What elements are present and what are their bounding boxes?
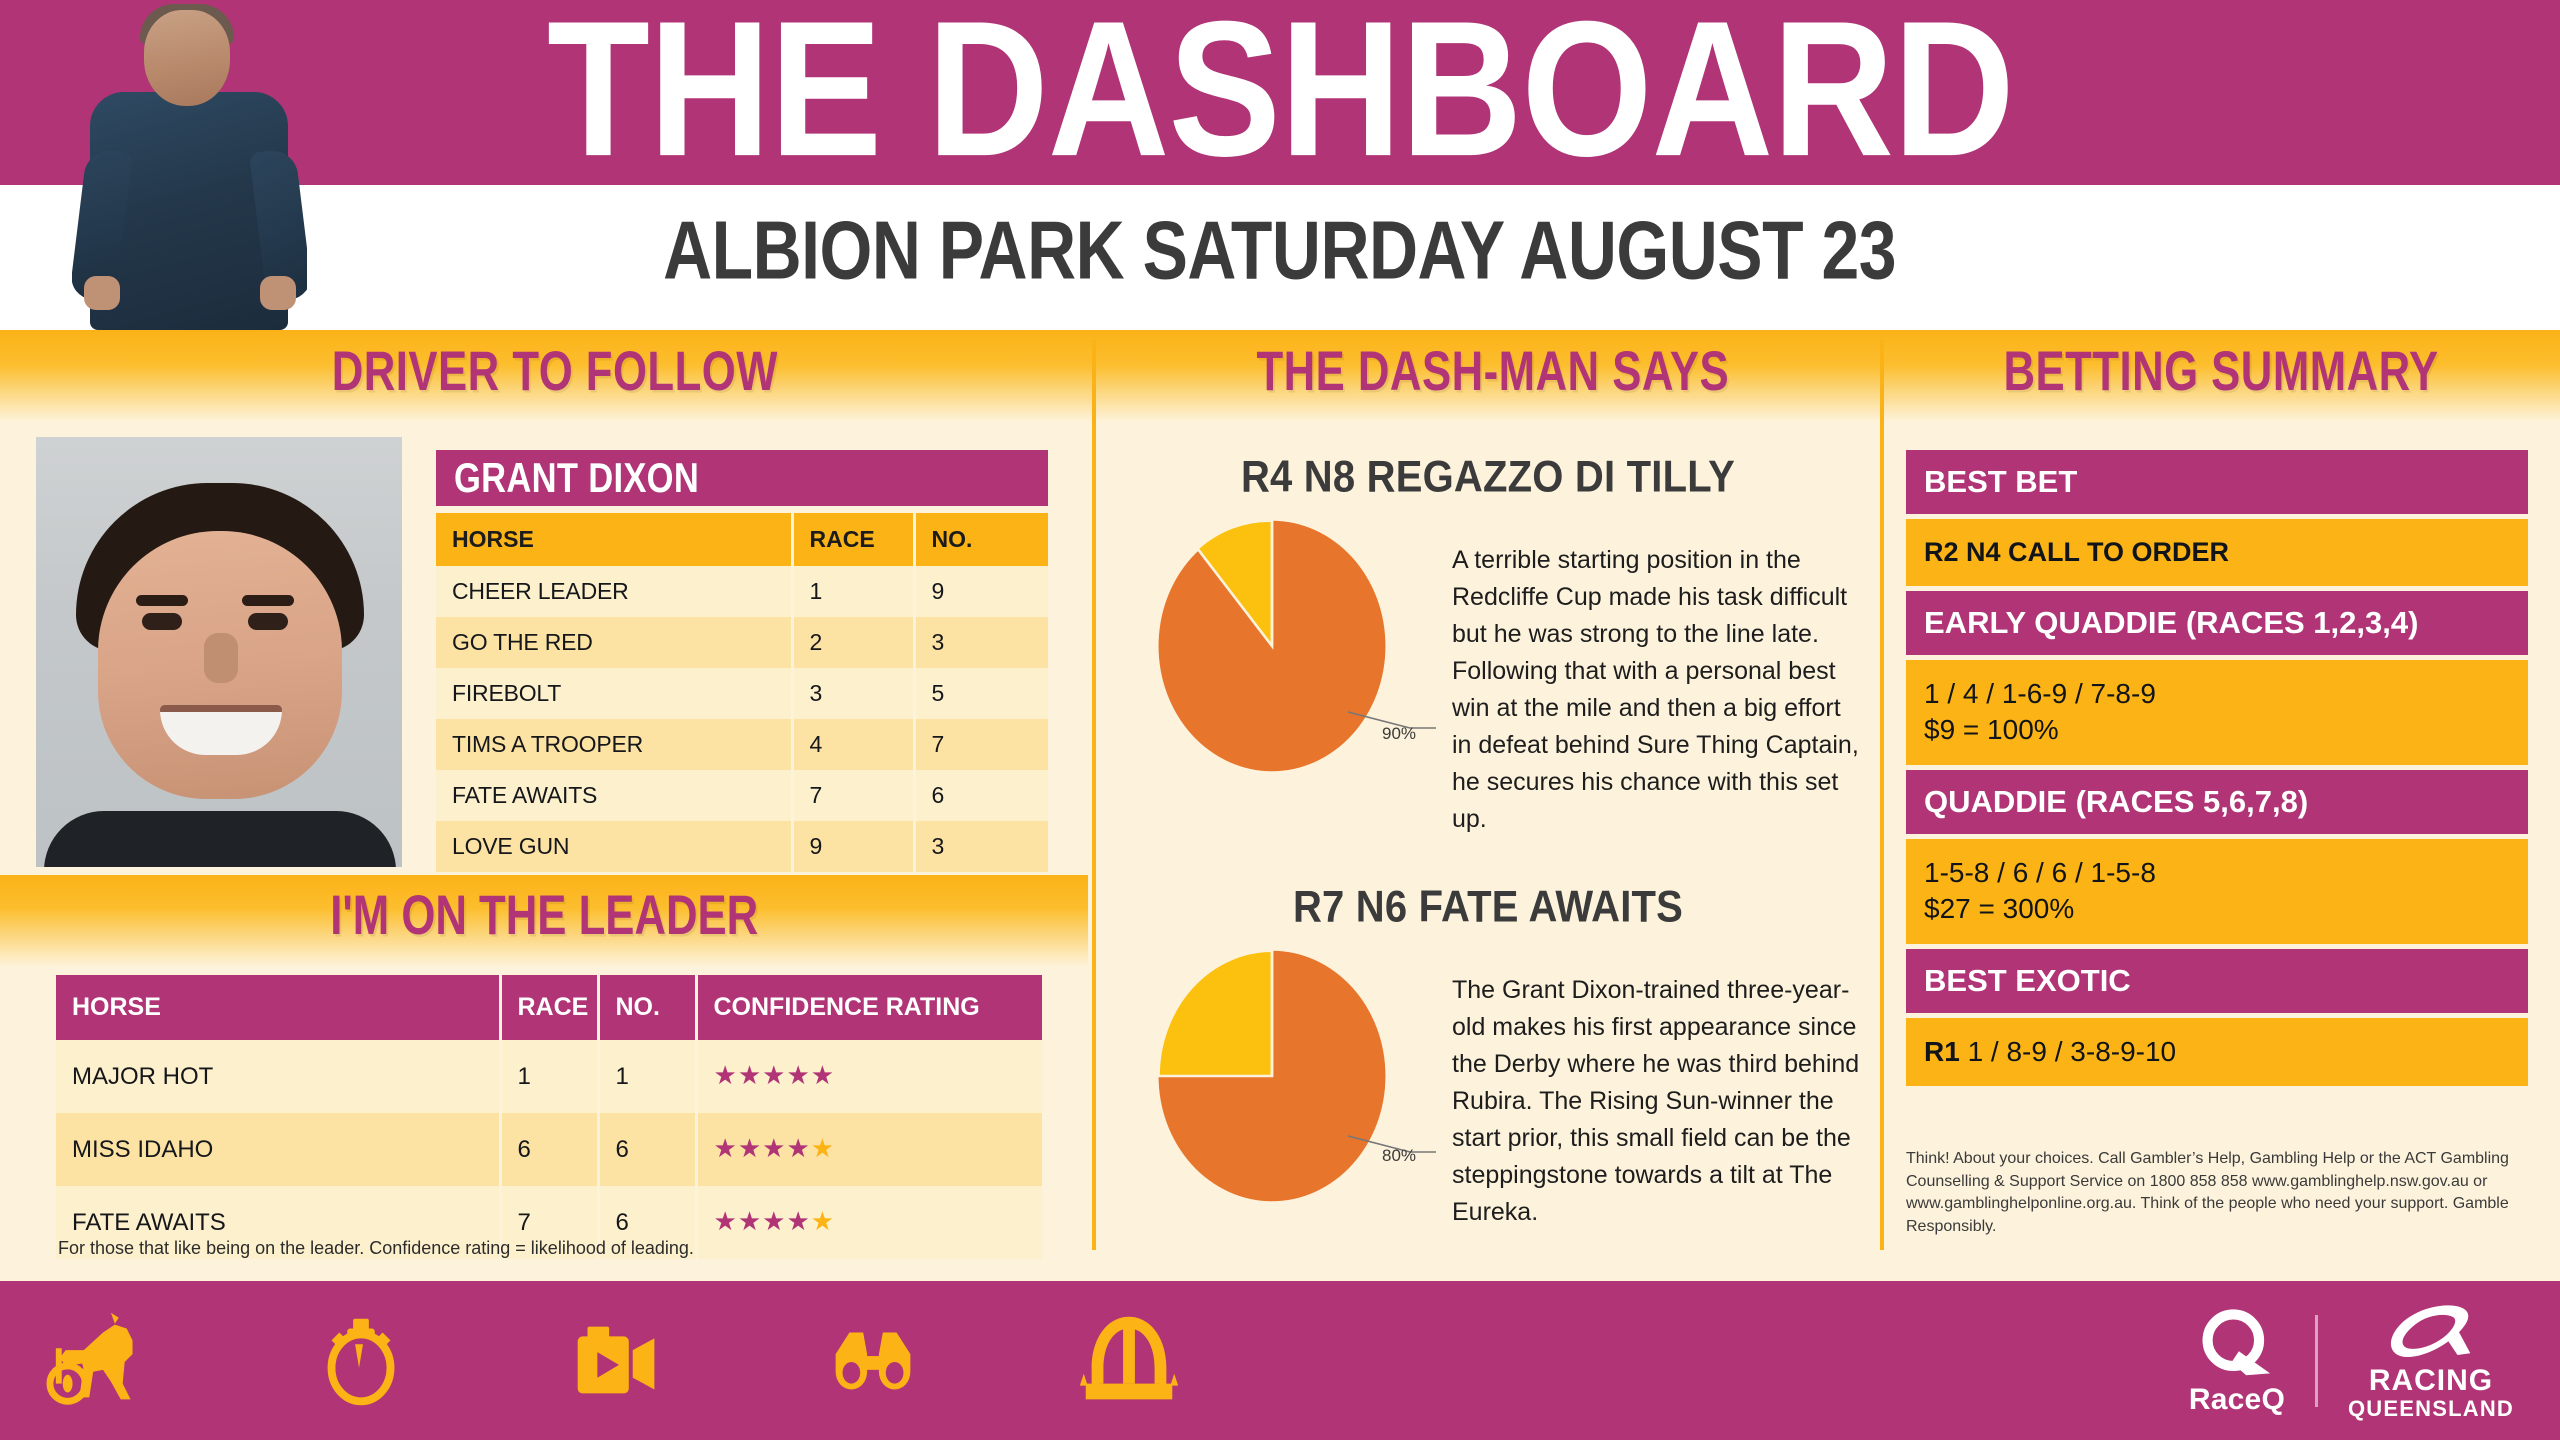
column-divider-left — [1092, 340, 1096, 1250]
table-row: TIMS A TROOPER47 — [436, 719, 1048, 770]
cell-no: 1 — [598, 1040, 696, 1113]
cell-race: 1 — [500, 1040, 598, 1113]
cell-race: 4 — [792, 719, 914, 770]
section-title-im-on-the-leader: I'M ON THE LEADER — [0, 880, 1088, 950]
column-header-race: RACE — [500, 975, 598, 1040]
im-on-the-leader-table: HORSE RACE NO. CONFIDENCE RATING MAJOR H… — [56, 975, 1042, 1259]
driver-nose — [204, 633, 238, 683]
pie-chart-1-label: 90% — [1382, 724, 1416, 744]
pie-chart-2-wrap: 80% — [1110, 946, 1440, 1211]
best-exotic-value: R1 1 / 8-9 / 3-8-9-10 — [1906, 1018, 2528, 1086]
cell-horse: LOVE GUN — [436, 821, 792, 872]
page-subtitle-wrap: ALBION PARK SATURDAY AUGUST 23 — [0, 195, 2560, 305]
cell-no: 6 — [598, 1113, 696, 1186]
cell-horse: CHEER LEADER — [436, 566, 792, 617]
star-icon: ★ — [738, 1206, 762, 1236]
logo-separator — [2315, 1315, 2318, 1407]
star-icon: ★ — [738, 1060, 762, 1090]
column-divider-right — [1880, 340, 1884, 1250]
dash-man-text-1: A terrible starting position in the Redc… — [1440, 516, 1866, 838]
driver-brow-right — [242, 595, 294, 606]
quaddie-line-1: 1-5-8 / 6 / 6 / 1-5-8 — [1924, 855, 2528, 891]
star-icon: ★ — [786, 1060, 810, 1090]
quaddie-line-2: $27 = 300% — [1924, 891, 2528, 927]
cell-no: 5 — [914, 668, 1048, 719]
star-rating: ★★★★★ — [714, 1060, 836, 1090]
column-header-race: RACE — [792, 513, 914, 566]
cell-race: 1 — [792, 566, 914, 617]
cell-horse: FIREBOLT — [436, 668, 792, 719]
racing-queensland-line-2: QUEENSLAND — [2348, 1397, 2514, 1420]
column-header-no: NO. — [598, 975, 696, 1040]
table-row: LOVE GUN93 — [436, 821, 1048, 872]
footer-logo-row: RaceQ RACING QUEENSLAND — [2189, 1308, 2514, 1414]
early-quaddie-header: EARLY QUADDIE (RACES 1,2,3,4) — [1906, 591, 2528, 655]
racing-queensland-line-1: RACING — [2369, 1366, 2493, 1397]
page-title: THE DASHBOARD — [547, 0, 2014, 185]
racing-queensland-mark-icon — [2379, 1302, 2483, 1366]
raceq-wordmark: RaceQ — [2189, 1383, 2285, 1417]
section-title-driver-to-follow: DRIVER TO FOLLOW — [20, 336, 1090, 406]
column-header-confidence: CONFIDENCE RATING — [696, 975, 1042, 1040]
cell-confidence-rating: ★★★★★ — [696, 1040, 1042, 1113]
presenter-hand-left — [84, 276, 120, 310]
best-bet-header: BEST BET — [1906, 450, 2528, 514]
raceq-logo: RaceQ — [2189, 1305, 2285, 1417]
early-quaddie-line-1: 1 / 4 / 1-6-9 / 7-8-9 — [1924, 676, 2528, 712]
cell-horse: FATE AWAITS — [436, 770, 792, 821]
binoculars-icon — [814, 1310, 932, 1410]
best-exotic-combination: 1 / 8-9 / 3-8-9-10 — [1968, 1036, 2177, 1067]
column-header-no: NO. — [914, 513, 1048, 566]
driver-name-banner: GRANT DIXON — [436, 450, 1048, 506]
table-row: FATE AWAITS76 — [436, 770, 1048, 821]
early-quaddie-value: 1 / 4 / 1-6-9 / 7-8-9 $9 = 100% — [1906, 660, 2528, 765]
star-icon: ★ — [714, 1060, 738, 1090]
driver-to-follow-table: HORSE RACE NO. CHEER LEADER19GO THE RED2… — [436, 513, 1048, 872]
table-header-row: HORSE RACE NO. — [436, 513, 1048, 566]
table-row: GO THE RED23 — [436, 617, 1048, 668]
page-title-wrap: THE DASHBOARD — [280, 0, 2280, 184]
pie-chart-2-label: 80% — [1382, 1146, 1416, 1166]
early-quaddie-line-2: $9 = 100% — [1924, 712, 2528, 748]
cell-no: 6 — [914, 770, 1048, 821]
section-title-betting-summary: BETTING SUMMARY — [1896, 336, 2546, 406]
star-icon: ★ — [762, 1060, 786, 1090]
star-icon: ★ — [811, 1206, 835, 1236]
cell-race: 9 — [792, 821, 914, 872]
betting-summary-panel: BEST BET R2 N4 CALL TO ORDER EARLY QUADD… — [1906, 450, 2528, 1091]
star-icon: ★ — [811, 1060, 835, 1090]
quaddie-value: 1-5-8 / 6 / 6 / 1-5-8 $27 = 300% — [1906, 839, 2528, 944]
pie-chart-1-wrap: 90% — [1110, 516, 1440, 781]
cell-no: 3 — [914, 617, 1048, 668]
presenter-head — [144, 10, 230, 106]
quaddie-header: QUADDIE (RACES 5,6,7,8) — [1906, 770, 2528, 834]
cell-horse: TIMS A TROOPER — [436, 719, 792, 770]
racing-queensland-logo: RACING QUEENSLAND — [2348, 1302, 2514, 1420]
best-exotic-header: BEST EXOTIC — [1906, 949, 2528, 1013]
pie-callout-line-2 — [1260, 946, 1440, 1206]
driver-brow-left — [136, 595, 188, 606]
cell-no: 9 — [914, 566, 1048, 617]
star-icon: ★ — [786, 1206, 810, 1236]
best-exotic-race-prefix: R1 — [1924, 1036, 1960, 1067]
star-rating: ★★★★★ — [714, 1206, 836, 1236]
driver-eye-right — [248, 613, 288, 630]
star-rating: ★★★★★ — [714, 1133, 836, 1163]
cell-race: 3 — [792, 668, 914, 719]
cell-no: 7 — [914, 719, 1048, 770]
star-icon: ★ — [786, 1133, 810, 1163]
best-bet-value: R2 N4 CALL TO ORDER — [1906, 519, 2528, 586]
star-icon: ★ — [811, 1133, 835, 1163]
table-row: FIREBOLT35 — [436, 668, 1048, 719]
dash-man-block-2: R7 N6 FATE AWAITS 80% The Grant Dixon-tr… — [1110, 885, 1866, 1231]
presenter-hand-right — [260, 276, 296, 310]
footer-icon-row — [46, 1301, 1188, 1419]
table-row: MAJOR HOT11★★★★★ — [56, 1040, 1042, 1113]
star-icon: ★ — [714, 1133, 738, 1163]
cell-race: 7 — [792, 770, 914, 821]
table-row: CHEER LEADER19 — [436, 566, 1048, 617]
star-icon: ★ — [762, 1133, 786, 1163]
harness-horse-icon — [46, 1310, 164, 1410]
leader-footnote: For those that like being on the leader.… — [58, 1238, 958, 1259]
cell-confidence-rating: ★★★★★ — [696, 1113, 1042, 1186]
star-icon: ★ — [738, 1133, 762, 1163]
page-subtitle: ALBION PARK SATURDAY AUGUST 23 — [664, 203, 1897, 297]
column-header-horse: HORSE — [436, 513, 792, 566]
star-icon: ★ — [762, 1206, 786, 1236]
cell-horse: GO THE RED — [436, 617, 792, 668]
cell-no: 3 — [914, 821, 1048, 872]
table-header-row: HORSE RACE NO. CONFIDENCE RATING — [56, 975, 1042, 1040]
dash-man-title-1: R4 N8 REGAZZO DI TILLY — [1110, 452, 1866, 502]
driver-shirt — [44, 811, 396, 867]
table-row: MISS IDAHO66★★★★★ — [56, 1113, 1042, 1186]
gambling-disclaimer: Think! About your choices. Call Gambler’… — [1906, 1148, 2528, 1239]
grandstand-icon — [1070, 1310, 1188, 1410]
video-camera-icon — [558, 1310, 676, 1410]
cell-horse: MAJOR HOT — [56, 1040, 500, 1113]
dash-man-block-1: R4 N8 REGAZZO DI TILLY 90% A terrible st… — [1110, 455, 1866, 838]
dash-man-text-2: The Grant Dixon-trained three-year-old m… — [1440, 946, 1866, 1231]
driver-portrait-photo — [36, 437, 402, 867]
section-title-dash-man-says: THE DASH-MAN SAYS — [1098, 336, 1888, 406]
cell-horse: MISS IDAHO — [56, 1113, 500, 1186]
stopwatch-icon — [302, 1310, 420, 1410]
presenter-photo — [72, 0, 307, 330]
cell-race: 6 — [500, 1113, 598, 1186]
star-icon: ★ — [714, 1206, 738, 1236]
dash-man-title-2: R7 N6 FATE AWAITS — [1110, 882, 1866, 932]
column-header-horse: HORSE — [56, 975, 500, 1040]
driver-eye-left — [142, 613, 182, 630]
cell-race: 2 — [792, 617, 914, 668]
driver-name: GRANT DIXON — [454, 454, 699, 502]
raceq-mark-icon — [2191, 1305, 2283, 1381]
